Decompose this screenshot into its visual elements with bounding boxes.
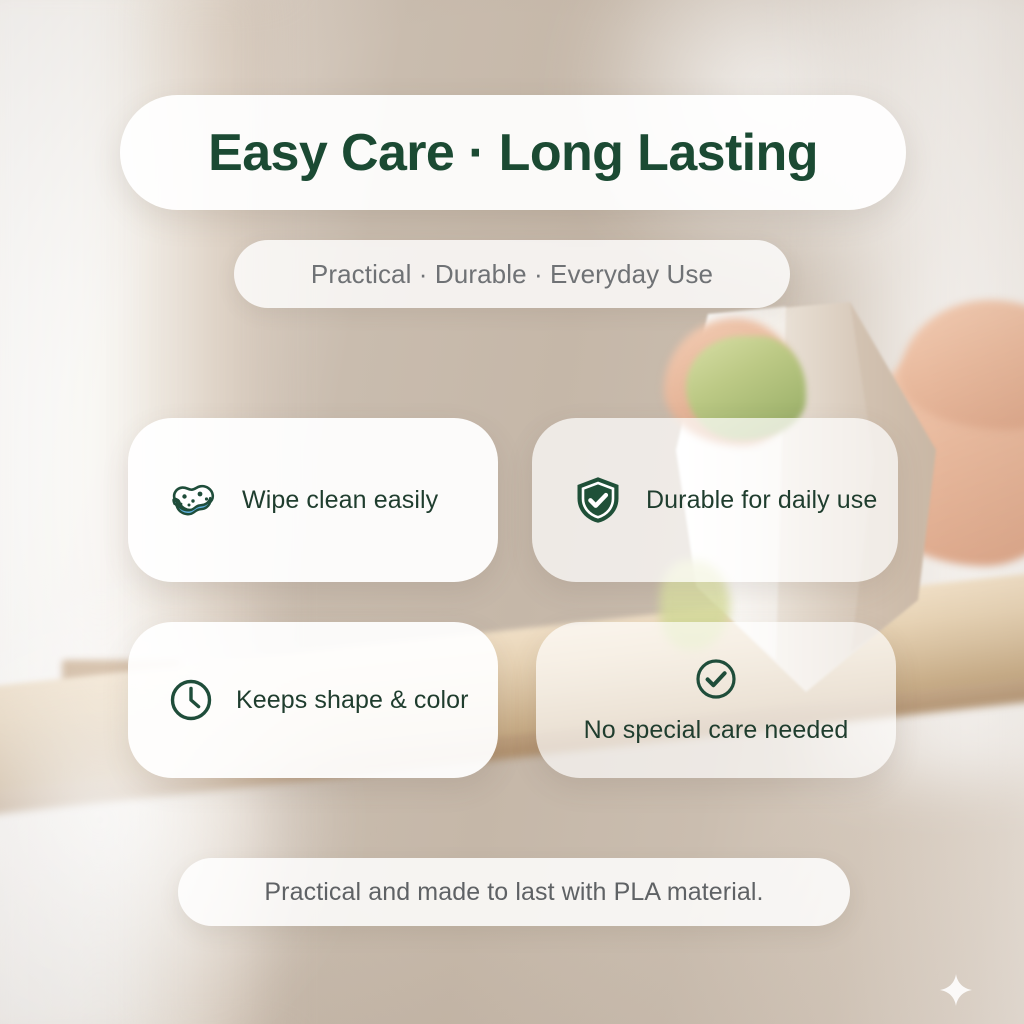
feature-card-no-special-care[interactable]: No special care needed — [536, 622, 896, 778]
sparkle-icon — [938, 972, 974, 1008]
footer-pill: Practical and made to last with PLA mate… — [178, 858, 850, 926]
poster-canvas: Easy Care · Long Lasting Practical · Dur… — [0, 0, 1024, 1024]
content-overlay: Easy Care · Long Lasting Practical · Dur… — [0, 0, 1024, 1024]
feature-card-keeps-shape[interactable]: Keeps shape & color — [128, 622, 498, 778]
title-pill: Easy Care · Long Lasting — [120, 95, 906, 210]
feature-card-durable[interactable]: Durable for daily use — [532, 418, 898, 582]
feature-label-keeps-shape: Keeps shape & color — [236, 686, 469, 715]
shield-check-icon — [572, 474, 624, 526]
feature-label-wipe-clean: Wipe clean easily — [242, 486, 438, 515]
page-subtitle: Practical · Durable · Everyday Use — [311, 259, 713, 290]
page-title: Easy Care · Long Lasting — [208, 123, 818, 183]
check-circle-icon — [693, 656, 739, 702]
feature-label-durable: Durable for daily use — [646, 486, 877, 515]
feature-label-no-special-care: No special care needed — [584, 716, 849, 745]
feature-card-wipe-clean[interactable]: Wipe clean easily — [128, 418, 498, 582]
footer-text: Practical and made to last with PLA mate… — [264, 878, 763, 907]
clock-icon — [168, 677, 214, 723]
sponge-icon — [168, 474, 220, 526]
subtitle-pill: Practical · Durable · Everyday Use — [234, 240, 790, 308]
